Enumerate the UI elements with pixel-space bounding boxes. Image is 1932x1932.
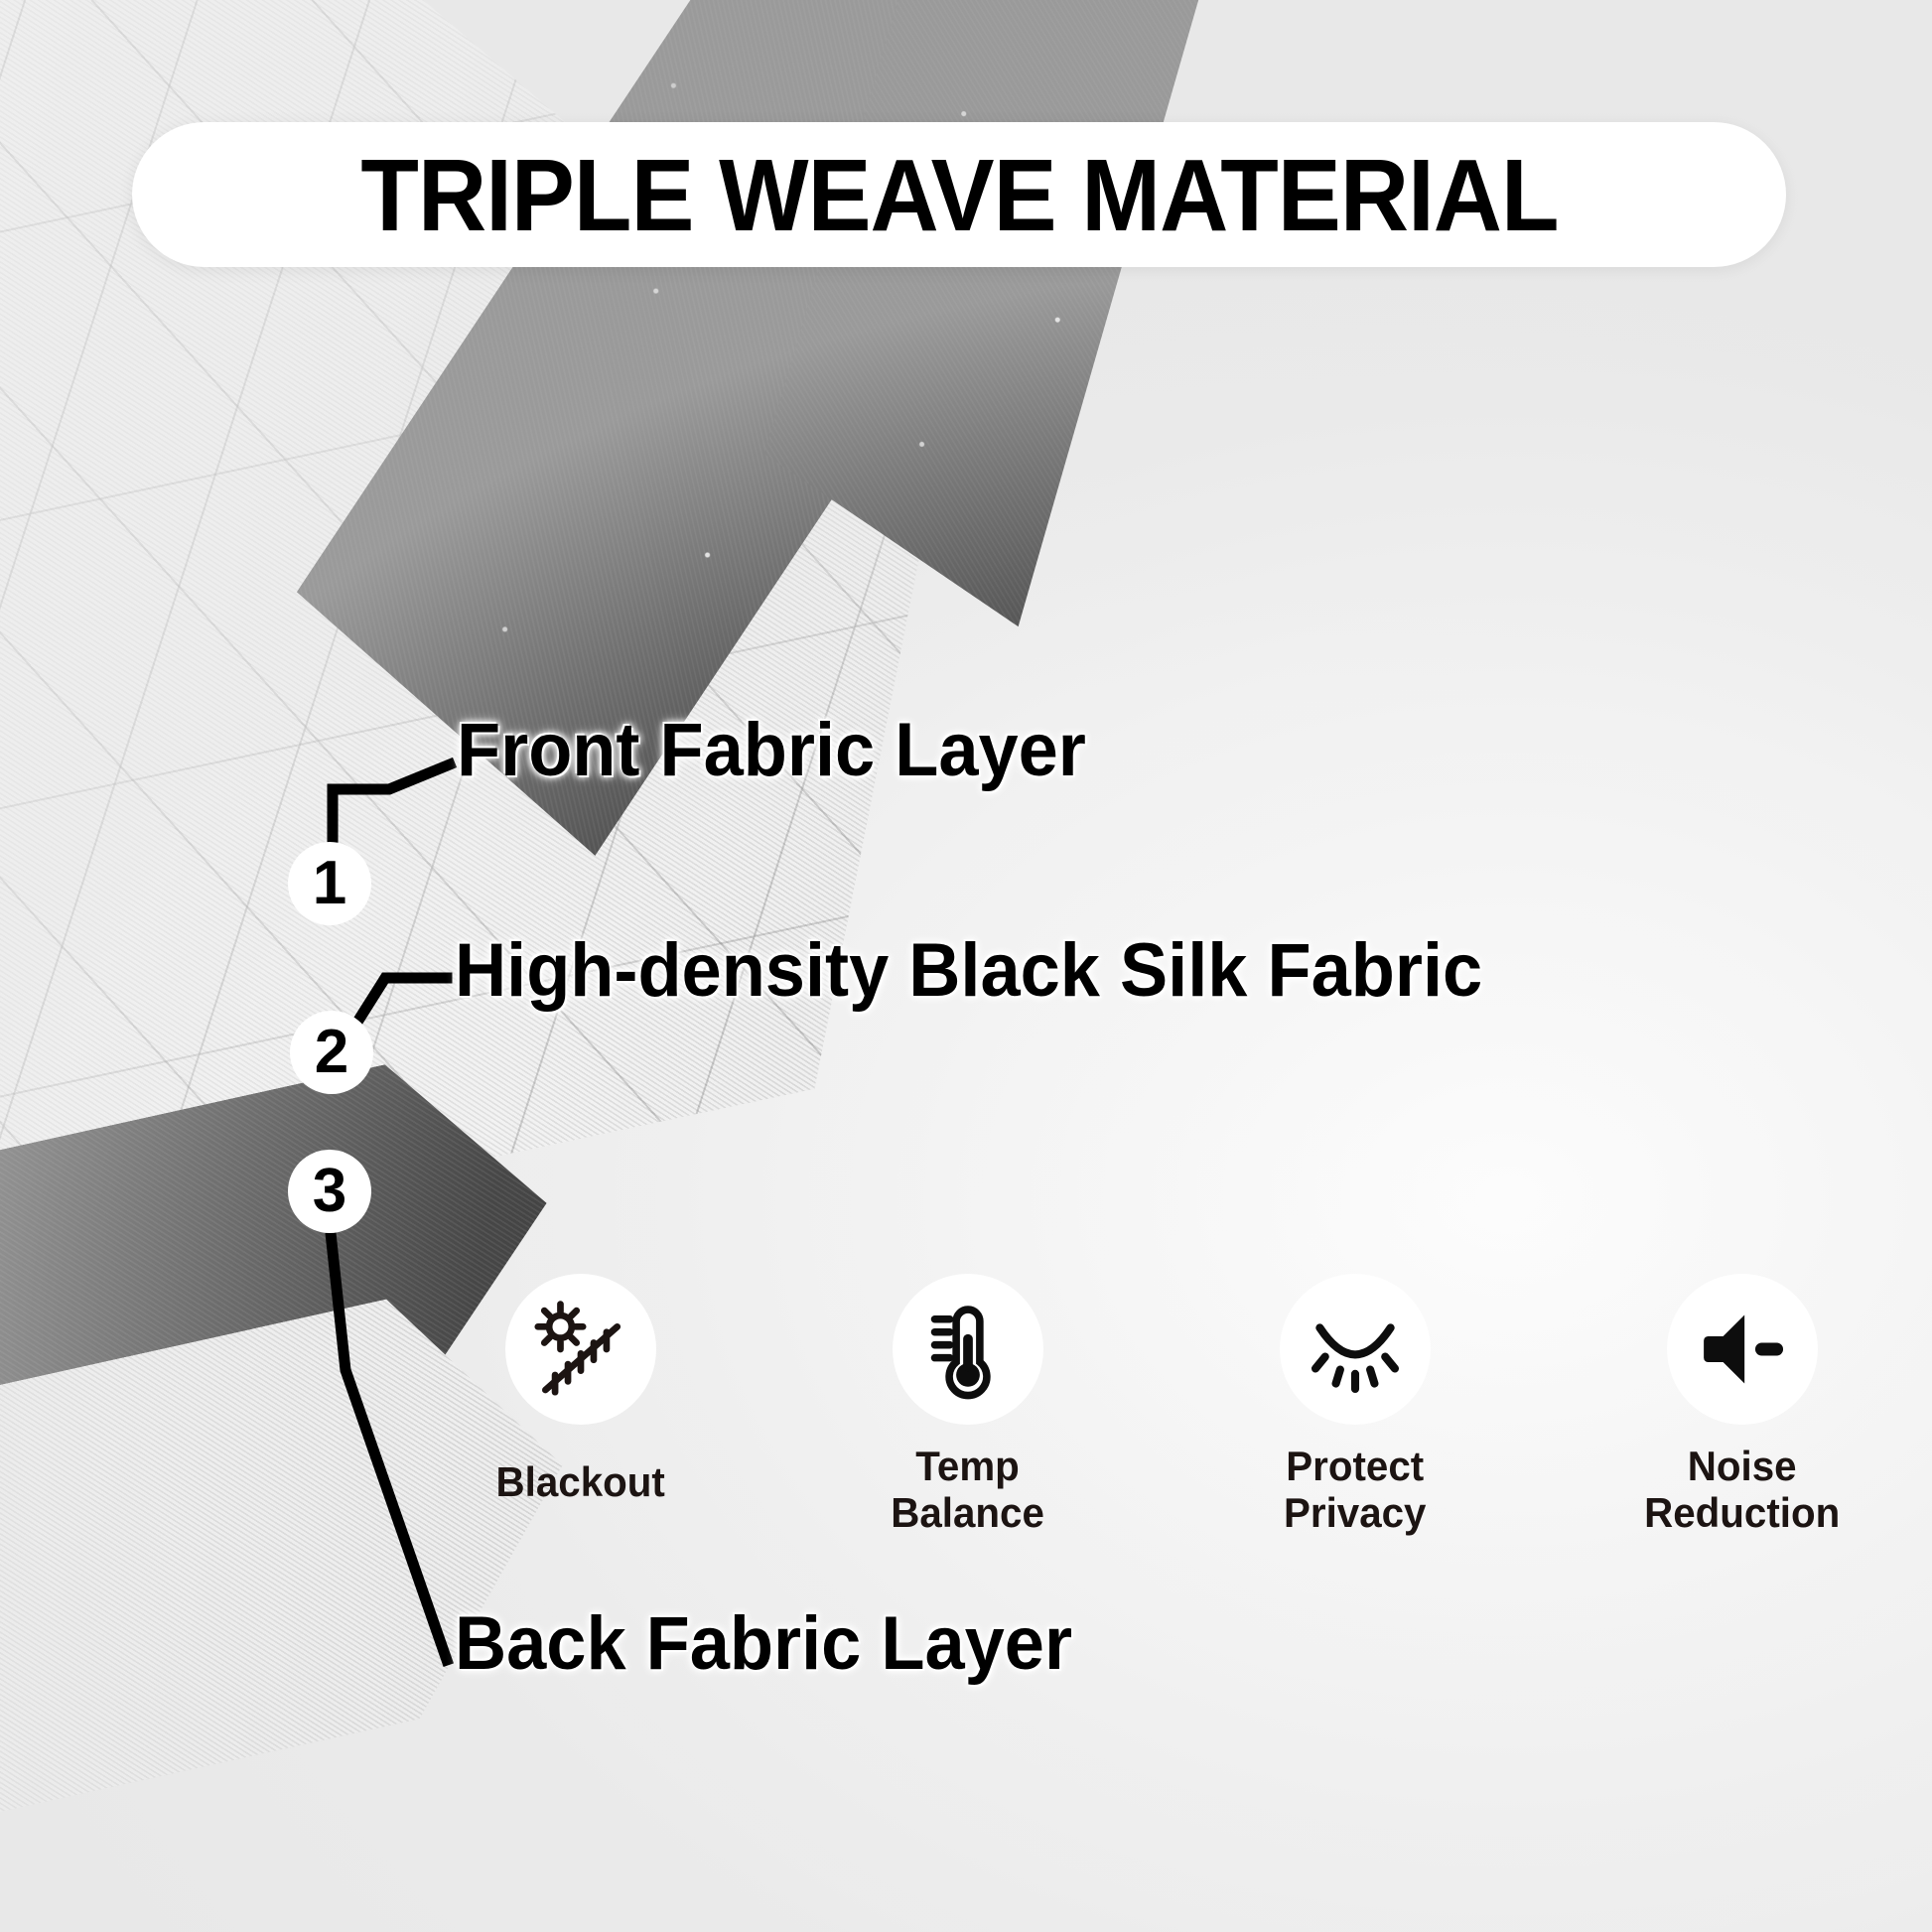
callout-marker-2: 2 <box>290 1011 373 1094</box>
feature-noise-reduction: Noise Reduction <box>1628 1274 1857 1536</box>
callout-number-2: 2 <box>315 1022 348 1083</box>
feature-badge-temp-balance <box>893 1274 1043 1425</box>
leader-line-3 <box>331 1233 447 1660</box>
feature-label-noise-reduction: Noise Reduction <box>1644 1443 1840 1536</box>
feature-badge-noise-reduction <box>1667 1274 1818 1425</box>
layer-label-front-fabric: Front Fabric Layer <box>457 713 1086 788</box>
sun-blind-icon <box>527 1296 634 1403</box>
feature-label-temp-balance: Temp Balance <box>892 1443 1045 1536</box>
callout-marker-1: 1 <box>288 842 371 925</box>
callout-marker-3: 3 <box>288 1150 371 1233</box>
layer-label-black-silk: High-density Black Silk Fabric <box>455 933 1482 1009</box>
feature-temp-balance: Temp Balance <box>854 1274 1082 1536</box>
speaker-minus-icon <box>1689 1296 1796 1403</box>
feature-badge-protect-privacy <box>1280 1274 1431 1425</box>
feature-label-protect-privacy: Protect Privacy <box>1284 1443 1426 1536</box>
feature-label-blackout: Blackout <box>496 1458 665 1505</box>
thermometer-icon <box>914 1296 1022 1403</box>
callout-number-1: 1 <box>313 853 346 914</box>
feature-badge-blackout <box>505 1274 656 1425</box>
feature-blackout: Blackout <box>467 1274 695 1505</box>
feature-list: Blackout Temp Balance <box>467 1274 1857 1572</box>
infographic-canvas: TRIPLE WEAVE MATERIAL 1 2 3 Front Fabric… <box>0 0 1932 1932</box>
feature-protect-privacy: Protect Privacy <box>1241 1274 1469 1536</box>
leader-line-1 <box>333 764 450 849</box>
layer-label-back-fabric: Back Fabric Layer <box>455 1606 1072 1682</box>
closed-eye-icon <box>1302 1296 1409 1403</box>
callout-number-3: 3 <box>313 1161 346 1222</box>
